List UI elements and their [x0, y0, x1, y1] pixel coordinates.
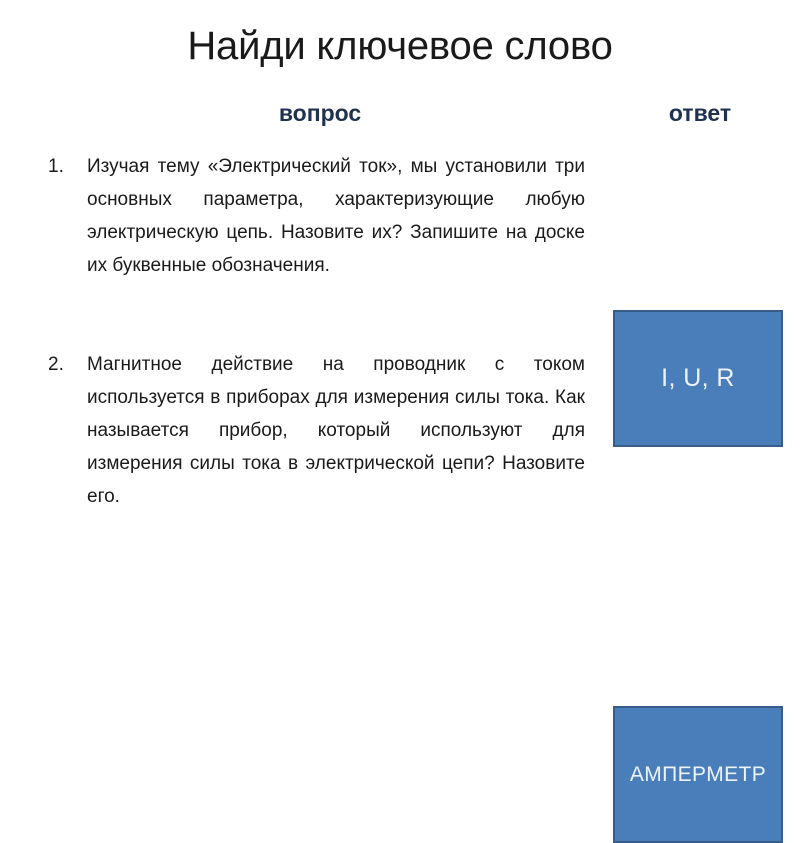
- answer-box: АМПЕРМЕТР: [613, 706, 783, 843]
- answer-text: АМПЕРМЕТР: [630, 763, 766, 787]
- question-text: Магнитное действие на проводник с током …: [87, 348, 585, 513]
- answer-text: I, U, R: [661, 364, 735, 393]
- column-header-answer: ответ: [620, 99, 780, 127]
- question-block: 1. Изучая тему «Электрический ток», мы у…: [45, 150, 585, 282]
- column-header-question: вопрос: [240, 99, 400, 127]
- slide-canvas: Найди ключевое слово вопрос ответ 1. Изу…: [0, 0, 800, 600]
- question-text: Изучая тему «Электрический ток», мы уста…: [87, 150, 585, 282]
- question-number: 2.: [48, 348, 80, 381]
- page-title: Найди ключевое слово: [0, 22, 800, 70]
- answer-box: I, U, R: [613, 310, 783, 447]
- question-number: 1.: [48, 150, 80, 183]
- question-block: 2. Магнитное действие на проводник с ток…: [45, 348, 585, 513]
